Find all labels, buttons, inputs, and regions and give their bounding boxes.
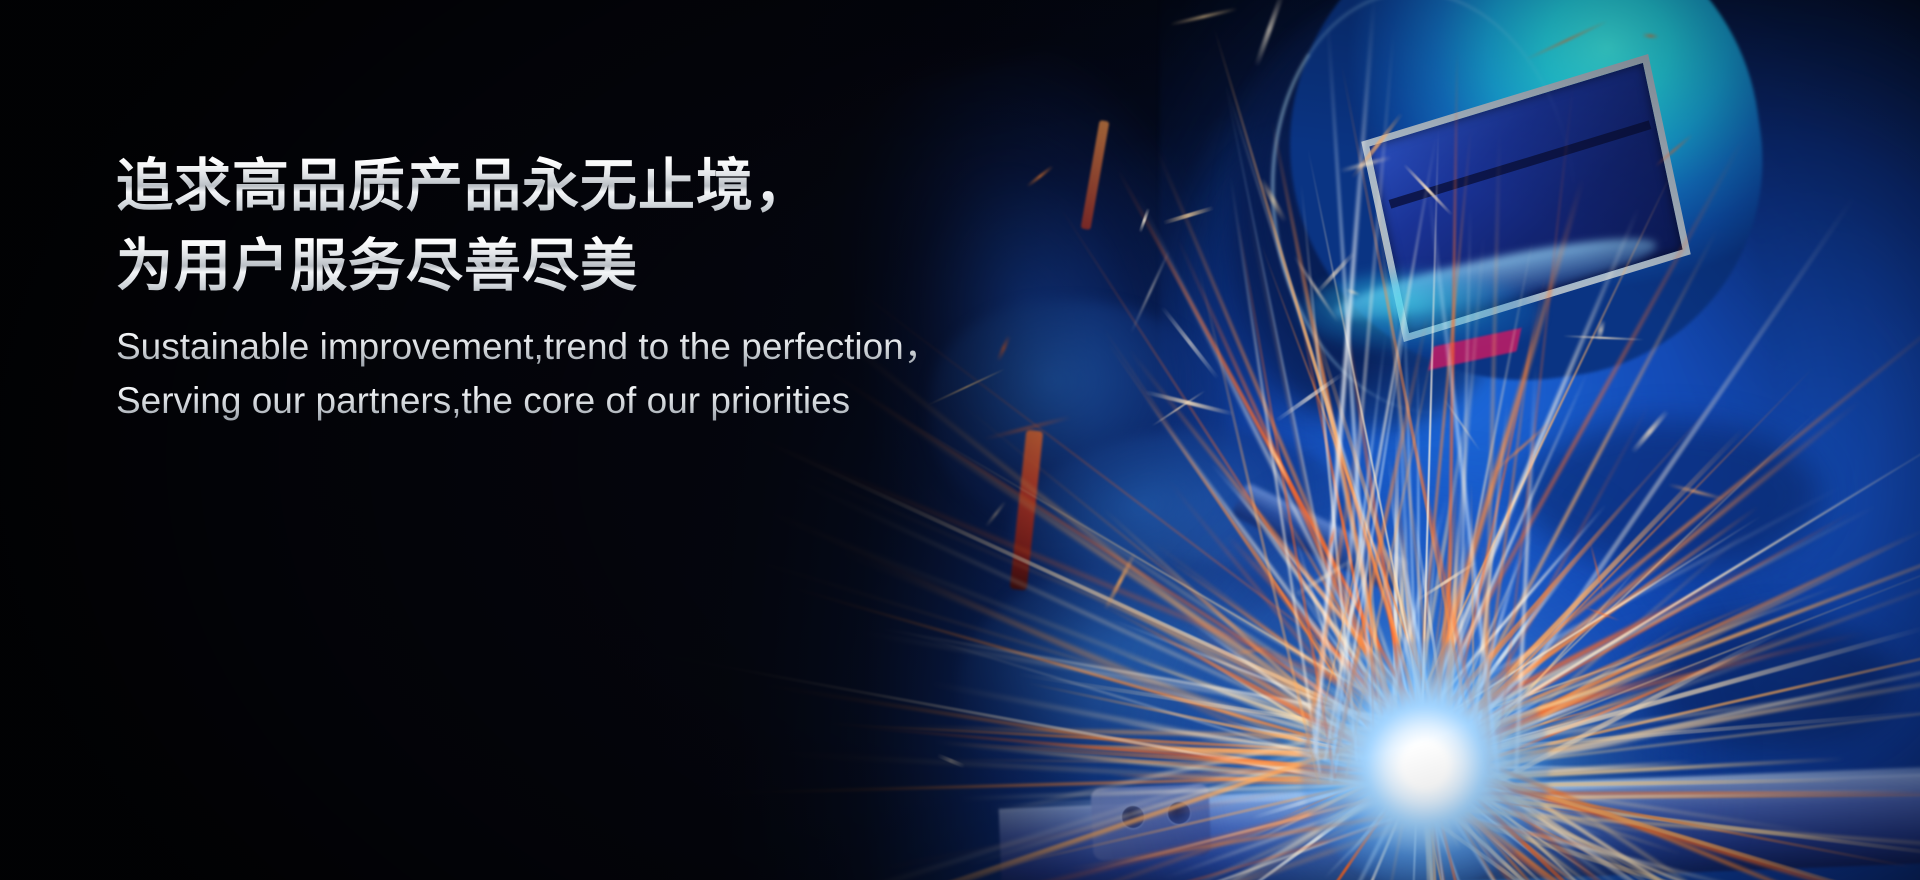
subtitle-line-2: Serving our partners,the core of our pri…: [116, 374, 1136, 428]
headline-line-2: 为用户服务尽善尽美: [116, 228, 1136, 304]
banner-copy: 追求高品质产品永无止境， 为用户服务尽善尽美 Sustainable impro…: [116, 148, 1136, 428]
vignette-overlay: [0, 0, 1920, 880]
headline-line-1: 追求高品质产品永无止境，: [116, 148, 1136, 224]
welding-photo: [0, 0, 1920, 880]
subtitle-line-1: Sustainable improvement,trend to the per…: [116, 320, 1136, 374]
subtitle-block: Sustainable improvement,trend to the per…: [116, 320, 1136, 428]
hero-banner: 追求高品质产品永无止境， 为用户服务尽善尽美 Sustainable impro…: [0, 0, 1920, 880]
